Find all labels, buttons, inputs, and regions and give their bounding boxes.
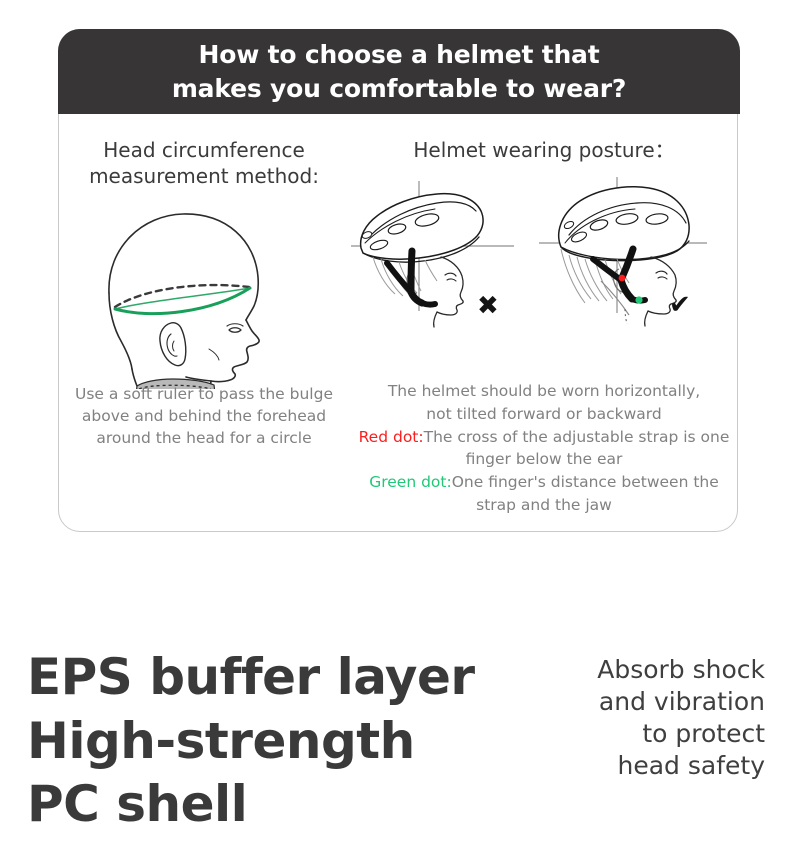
card-header-title: How to choose a helmet that makes you co…	[172, 38, 626, 105]
helmet-posture-illustrations: ✖	[349, 163, 739, 363]
head-measurement-section: Head circumference measurement method:	[59, 115, 349, 532]
helmet-guide-card: How to choose a helmet that makes you co…	[58, 29, 738, 532]
product-feature-block: EPS buffer layer High-strength PC shell …	[0, 632, 790, 865]
red-dot-label: Red dot:	[359, 428, 424, 446]
helmet-posture-title: Helmet wearing posture：	[349, 115, 739, 163]
green-dot-marker	[635, 296, 642, 303]
card-header: How to choose a helmet that makes you co…	[58, 29, 740, 114]
correct-mark-icon: ✔	[669, 290, 691, 320]
head-measurement-title: Head circumference measurement method:	[59, 115, 349, 189]
posture-caption-line2: not tilted forward or backward	[355, 403, 733, 426]
head-measurement-figure-wrap	[59, 189, 349, 389]
posture-caption-line1: The helmet should be worn horizontally,	[355, 380, 733, 403]
tape-dashed-rear	[115, 285, 249, 307]
green-dot-text: One finger's distance between the strap …	[452, 473, 719, 514]
red-dot-marker	[619, 275, 626, 282]
card-body: Head circumference measurement method:	[59, 115, 739, 532]
red-dot-note: Red dot:The cross of the adjustable stra…	[355, 426, 733, 472]
helmet-posture-figures-wrap: ✖	[349, 163, 739, 363]
helmet-tilted-back-incorrect-icon: ✖	[351, 181, 514, 327]
head-measurement-caption: Use a soft ruler to pass the bulge above…	[67, 383, 341, 449]
red-dot-text: The cross of the adjustable strap is one…	[424, 428, 730, 469]
helmet-horizontal-correct-icon: ✔	[539, 177, 707, 326]
head-side-profile-with-measuring-tape-icon	[59, 189, 349, 389]
feature-headline: EPS buffer layer High-strength PC shell	[27, 646, 527, 837]
helmet-posture-caption: The helmet should be worn horizontally, …	[355, 380, 733, 517]
green-dot-note: Green dot:One finger's distance between …	[355, 471, 733, 517]
incorrect-mark-icon: ✖	[477, 291, 499, 321]
helmet-posture-section: Helmet wearing posture：	[349, 115, 739, 532]
green-dot-label: Green dot:	[369, 473, 452, 491]
feature-subline: Absorb shock and vibration to protect he…	[485, 654, 765, 782]
